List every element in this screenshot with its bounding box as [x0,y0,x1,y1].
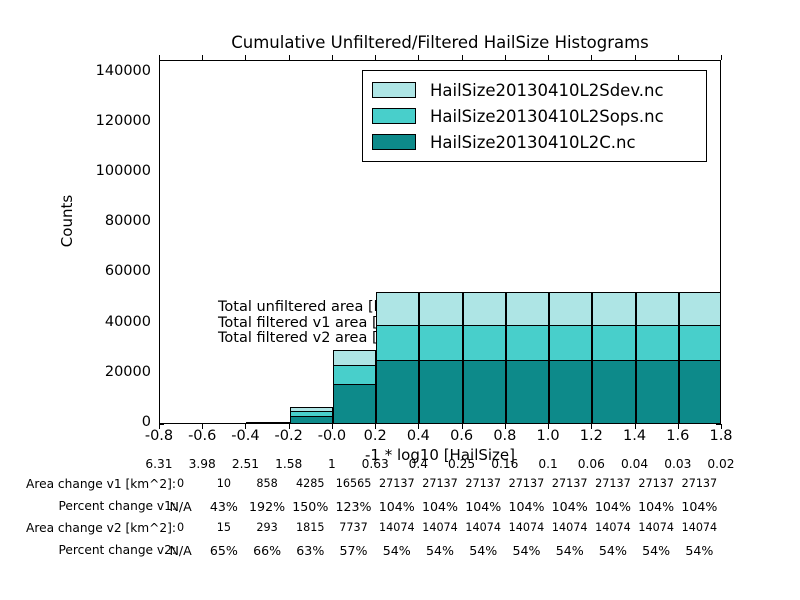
legend-label: HailSize20130410L2Sops.nc [430,107,664,126]
x-tick-mark [245,424,246,429]
table-row: Area change v2 [km^2]:015293181577371407… [0,521,800,540]
x-tick-mark [289,424,290,429]
histogram-bar [376,360,419,424]
x-tick-mark [332,424,333,429]
y-tick-label: 100000 [55,163,151,179]
legend-swatch [372,134,416,150]
x-tick-mark-top [721,55,722,60]
legend-label: HailSize20130410L2C.nc [430,133,636,152]
x-tick-label: 1.8 [691,428,751,444]
x-tick-mark [375,424,376,429]
x-tick-mark [418,424,419,429]
table-row: Percent change v1:N/A43%192%150%123%104%… [0,499,800,518]
y-tick-label: 60000 [55,263,151,279]
x-tick-mark [159,424,160,429]
histogram-bar [636,360,679,424]
table-row: Area change v1 [km^2]:010858428516565271… [0,477,800,496]
summary-table: 6.313.982.511.5810.630.40.250.160.10.060… [0,455,800,560]
histogram-bar [679,360,721,424]
legend-item[interactable]: HailSize20130410L2Sops.nc [372,103,697,129]
x-tick-mark [505,424,506,429]
x-tick-mark [548,424,549,429]
histogram-bar [246,423,289,424]
x-tick-mark [591,424,592,429]
table-cell: 54% [670,543,728,558]
legend-swatch [372,108,416,124]
legend-swatch [372,82,416,98]
chart-legend[interactable]: HailSize20130410L2Sdev.ncHailSize2013041… [362,70,707,162]
legend-label: HailSize20130410L2Sdev.nc [430,81,664,100]
x-tick-mark [462,424,463,429]
table-row: Percent change v2:N/A65%66%63%57%54%54%5… [0,543,800,562]
legend-item[interactable]: HailSize20130410L2C.nc [372,129,697,155]
x-tick-mark [202,424,203,429]
histogram-bar [333,384,376,424]
table-row-hailsize: 6.313.982.511.5810.630.40.250.160.10.060… [0,455,800,474]
x-tick-mark [678,424,679,429]
table-cell: 0.02 [692,457,750,471]
figure-canvas: Cumulative Unfiltered/Filtered HailSize … [0,0,800,600]
x-tick-mark [721,424,722,429]
y-tick-label: 20000 [55,364,151,380]
chart-title: Cumulative Unfiltered/Filtered HailSize … [159,33,721,52]
histogram-bar [419,360,462,424]
histogram-bar [246,423,289,424]
y-tick-label: 80000 [55,213,151,229]
table-cell: 27137 [670,477,728,490]
y-tick-label: 40000 [55,314,151,330]
histogram-bar [463,360,506,424]
table-cell: 14074 [670,521,728,534]
x-tick-mark [635,424,636,429]
histogram-bar [506,360,549,424]
table-cell: 104% [670,499,728,514]
histogram-bar [549,360,592,424]
histogram-bar [592,360,635,424]
histogram-bar [290,416,333,424]
legend-item[interactable]: HailSize20130410L2Sdev.nc [372,77,697,103]
y-tick-label: 120000 [55,113,151,129]
y-tick-label: 140000 [55,63,151,79]
